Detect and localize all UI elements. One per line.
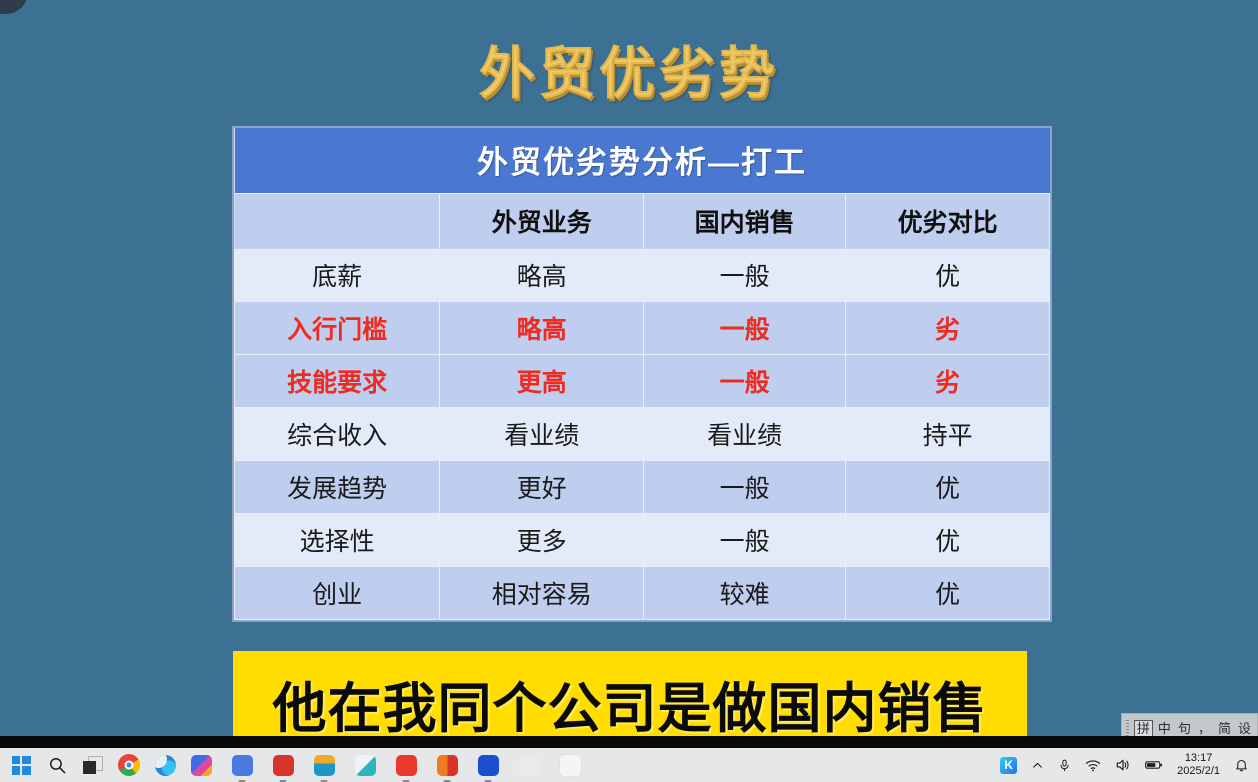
wifi-icon[interactable] xyxy=(1085,759,1101,772)
table-banner-row: 外贸优劣势分析—打工 xyxy=(235,128,1050,194)
row-label: 底薪 xyxy=(235,249,440,302)
taskbar-clock[interactable]: 13:17 2025/2/1 xyxy=(1177,752,1220,778)
ime-comma-icon[interactable]: ， xyxy=(1196,721,1213,736)
row-label: 发展趋势 xyxy=(235,461,440,514)
task-view-button[interactable] xyxy=(81,753,105,777)
row-foreign-trade: 看业绩 xyxy=(440,408,644,461)
taskbar-app-8[interactable] xyxy=(517,753,541,777)
row-comparison: 优 xyxy=(846,514,1050,567)
subtitle-caption-text: 他在我同个公司是做国内销售 xyxy=(273,664,988,743)
app-3-icon xyxy=(314,755,335,776)
taskbar-app-3[interactable] xyxy=(312,753,336,777)
taskbar-app-9[interactable] xyxy=(558,753,582,777)
row-comparison: 持平 xyxy=(846,408,1050,461)
ime-punctuation-icon[interactable]: 句 xyxy=(1176,721,1193,736)
taskbar-app-6[interactable] xyxy=(435,753,459,777)
row-domestic-sales: 一般 xyxy=(644,355,846,408)
row-foreign-trade: 更高 xyxy=(440,355,644,408)
row-label: 创业 xyxy=(235,567,440,620)
row-foreign-trade: 相对容易 xyxy=(440,567,644,620)
table-row: 入行门槛 略高 一般 劣 xyxy=(235,302,1050,355)
windows-taskbar: K xyxy=(0,748,1258,782)
table-header-foreign-trade: 外贸业务 xyxy=(440,194,644,249)
taskbar-app-1[interactable] xyxy=(230,753,254,777)
taskbar-running-apps xyxy=(213,753,1000,777)
row-comparison: 劣 xyxy=(846,355,1050,408)
desktop-background: 外贸优劣势 外贸优劣势分析—打工 外贸业务 国内销售 优劣对比 底薪 略高 xyxy=(0,0,1258,782)
table-row: 技能要求 更高 一般 劣 xyxy=(235,355,1050,408)
chrome-icon xyxy=(118,754,140,776)
app-colorful-button[interactable] xyxy=(189,753,213,777)
search-button[interactable] xyxy=(45,753,69,777)
battery-icon[interactable] xyxy=(1145,759,1163,771)
table-row: 创业 相对容易 较难 优 xyxy=(235,567,1050,620)
chevron-up-icon[interactable] xyxy=(1031,759,1044,772)
row-label: 综合收入 xyxy=(235,408,440,461)
row-domestic-sales: 一般 xyxy=(644,249,846,302)
ime-drag-handle[interactable] xyxy=(1126,720,1129,736)
windows-start-icon xyxy=(12,756,31,775)
app-8-icon xyxy=(519,755,540,776)
row-domestic-sales: 较难 xyxy=(644,567,846,620)
system-tray: K xyxy=(1000,752,1258,778)
taskbar-app-4[interactable] xyxy=(353,753,377,777)
row-foreign-trade: 略高 xyxy=(440,302,644,355)
row-domestic-sales: 看业绩 xyxy=(644,408,846,461)
table-row: 发展趋势 更好 一般 优 xyxy=(235,461,1050,514)
edge-icon xyxy=(155,755,176,776)
edge-button[interactable] xyxy=(153,753,177,777)
app-1-icon xyxy=(232,755,253,776)
taskbar-app-7[interactable] xyxy=(476,753,500,777)
row-comparison: 优 xyxy=(846,567,1050,620)
table-banner-title: 外贸优劣势分析—打工 xyxy=(235,128,1050,194)
clock-time: 13:17 xyxy=(1177,752,1220,765)
start-button[interactable] xyxy=(9,753,33,777)
table-header-comparison: 优劣对比 xyxy=(846,194,1050,249)
ime-chinese-english-icon[interactable]: 中 xyxy=(1156,721,1173,736)
ime-settings-icon[interactable]: 设 xyxy=(1236,721,1253,736)
row-comparison: 优 xyxy=(846,249,1050,302)
row-comparison: 优 xyxy=(846,461,1050,514)
comparison-table-container: 外贸优劣势分析—打工 外贸业务 国内销售 优劣对比 底薪 略高 一般 优 入行门… xyxy=(232,126,1052,622)
table-header-row: 外贸业务 国内销售 优劣对比 xyxy=(235,194,1050,249)
page-title: 外贸优劣势 xyxy=(0,44,1258,104)
row-foreign-trade: 更多 xyxy=(440,514,644,567)
clock-date: 2025/2/1 xyxy=(1177,765,1220,778)
row-label: 入行门槛 xyxy=(235,302,440,355)
app-6-icon xyxy=(437,755,458,776)
ime-simplified-icon[interactable]: 简 xyxy=(1216,721,1233,736)
table-row: 底薪 略高 一般 优 xyxy=(235,249,1050,302)
row-domestic-sales: 一般 xyxy=(644,461,846,514)
tray-ime-app-icon[interactable]: K xyxy=(1000,757,1017,774)
table-header-blank xyxy=(235,194,440,249)
taskbar-app-5[interactable] xyxy=(394,753,418,777)
app-4-icon xyxy=(355,755,376,776)
screen-black-strip xyxy=(0,736,1258,748)
comparison-table: 外贸优劣势分析—打工 外贸业务 国内销售 优劣对比 底薪 略高 一般 优 入行门… xyxy=(234,128,1050,620)
notification-bell-icon[interactable] xyxy=(1234,758,1249,773)
microphone-icon[interactable] xyxy=(1058,758,1071,773)
taskbar-app-2[interactable] xyxy=(271,753,295,777)
app-2-icon xyxy=(273,755,294,776)
search-icon xyxy=(48,756,67,775)
row-comparison: 劣 xyxy=(846,302,1050,355)
app-5-icon xyxy=(396,755,417,776)
ime-mode-pinyin-icon[interactable]: 拼 xyxy=(1134,720,1153,737)
table-header-domestic-sales: 国内销售 xyxy=(644,194,846,249)
row-domestic-sales: 一般 xyxy=(644,514,846,567)
row-label: 技能要求 xyxy=(235,355,440,408)
task-view-icon xyxy=(83,756,103,774)
taskbar-left-group xyxy=(0,753,213,777)
table-row: 选择性 更多 一般 优 xyxy=(235,514,1050,567)
row-foreign-trade: 更好 xyxy=(440,461,644,514)
screen-corner-notch xyxy=(0,0,28,14)
row-label: 选择性 xyxy=(235,514,440,567)
colorful-app-icon xyxy=(191,755,212,776)
table-row: 综合收入 看业绩 看业绩 持平 xyxy=(235,408,1050,461)
app-9-icon xyxy=(559,754,582,777)
chrome-button[interactable] xyxy=(117,753,141,777)
volume-icon[interactable] xyxy=(1115,758,1131,772)
row-foreign-trade: 略高 xyxy=(440,249,644,302)
row-domestic-sales: 一般 xyxy=(644,302,846,355)
app-7-icon xyxy=(478,755,499,776)
